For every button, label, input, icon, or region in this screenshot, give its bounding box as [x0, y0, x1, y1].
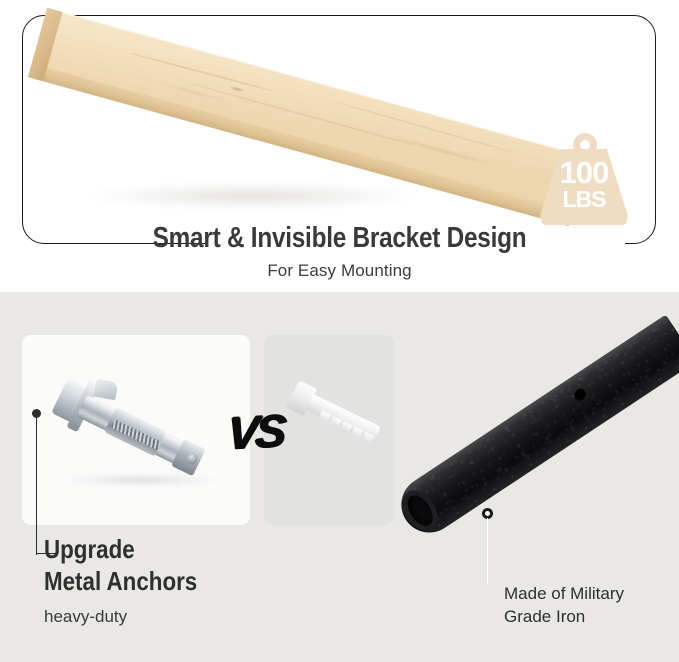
wood-grain	[386, 133, 503, 171]
weight-value: 100	[535, 158, 633, 188]
wood-grain	[129, 52, 275, 92]
military-iron-line2: Grade Iron	[504, 605, 624, 628]
callout-leader-military-iron	[487, 518, 489, 584]
weight-badge-text: 100 LBS	[535, 158, 633, 210]
pipe-body	[391, 315, 679, 544]
military-iron-heading: Made of Military Grade Iron	[504, 582, 624, 628]
metal-anchor-card	[22, 335, 250, 525]
wood-knot	[229, 85, 245, 93]
top-panel-title: Smart & Invisible Bracket Design	[54, 222, 624, 255]
callout-leader-vertical-metal	[36, 417, 37, 555]
metal-anchors-heading-line1: Upgrade	[44, 536, 135, 563]
metal-anchors-subtext: heavy-duty	[44, 607, 127, 627]
military-iron-line1: Made of Military	[504, 582, 624, 605]
top-panel-subtitle: For Easy Mounting	[0, 261, 679, 281]
versus-mark: VS	[226, 390, 294, 471]
iron-pipe-image	[396, 292, 679, 592]
weight-capacity-badge: 100 LBS	[535, 133, 633, 225]
anchor-wing	[94, 379, 119, 401]
weight-unit: LBS	[535, 188, 633, 210]
metal-anchors-heading-line2: Metal Anchors	[44, 568, 197, 595]
board-top-face	[33, 8, 588, 213]
shelf-drop-shadow	[88, 183, 418, 209]
infographic-canvas: 100 LBS Smart & Invisible Bracket Design…	[0, 0, 679, 662]
top-panel: 100 LBS Smart & Invisible Bracket Design…	[0, 0, 679, 292]
